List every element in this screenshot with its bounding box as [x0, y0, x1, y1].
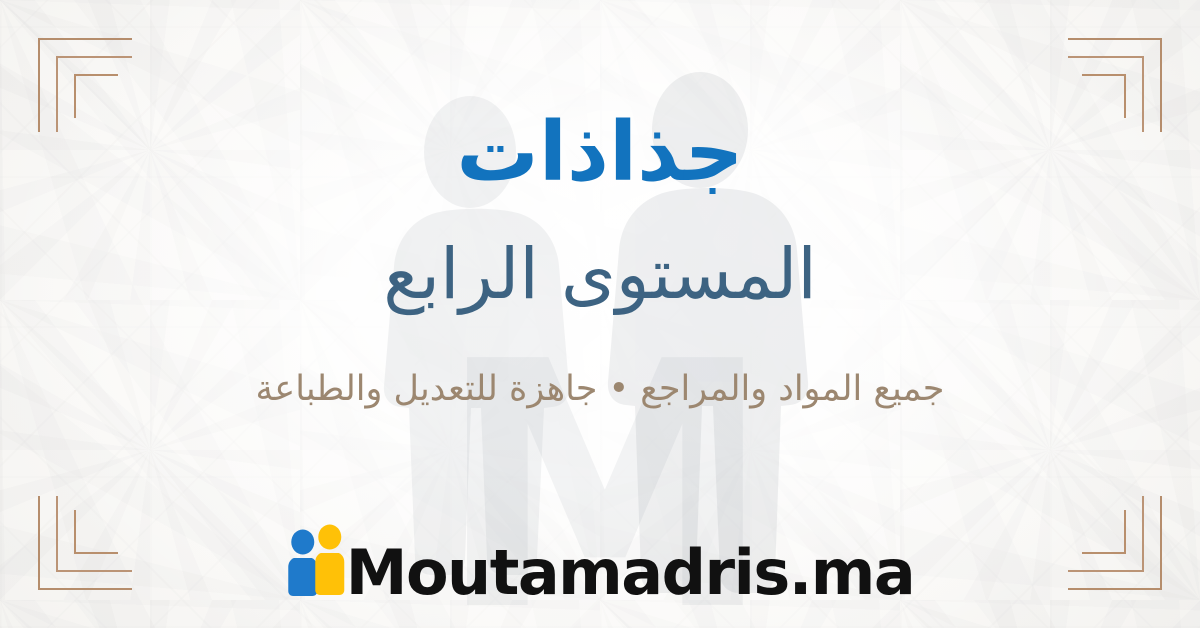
- banner-title: جذاذات: [456, 112, 743, 194]
- banner-subtitle: المستوى الرابع: [383, 238, 817, 312]
- logo-wordmark: Moutamadris.ma: [346, 542, 914, 604]
- two-students-icon: [286, 524, 350, 610]
- site-logo[interactable]: Moutamadris.ma: [286, 518, 914, 610]
- promo-banner: M جذاذات المستوى الرابع جميع المواد والم…: [0, 0, 1200, 628]
- banner-tagline: جميع المواد والمراجع • جاهزة للتعديل وال…: [256, 368, 945, 410]
